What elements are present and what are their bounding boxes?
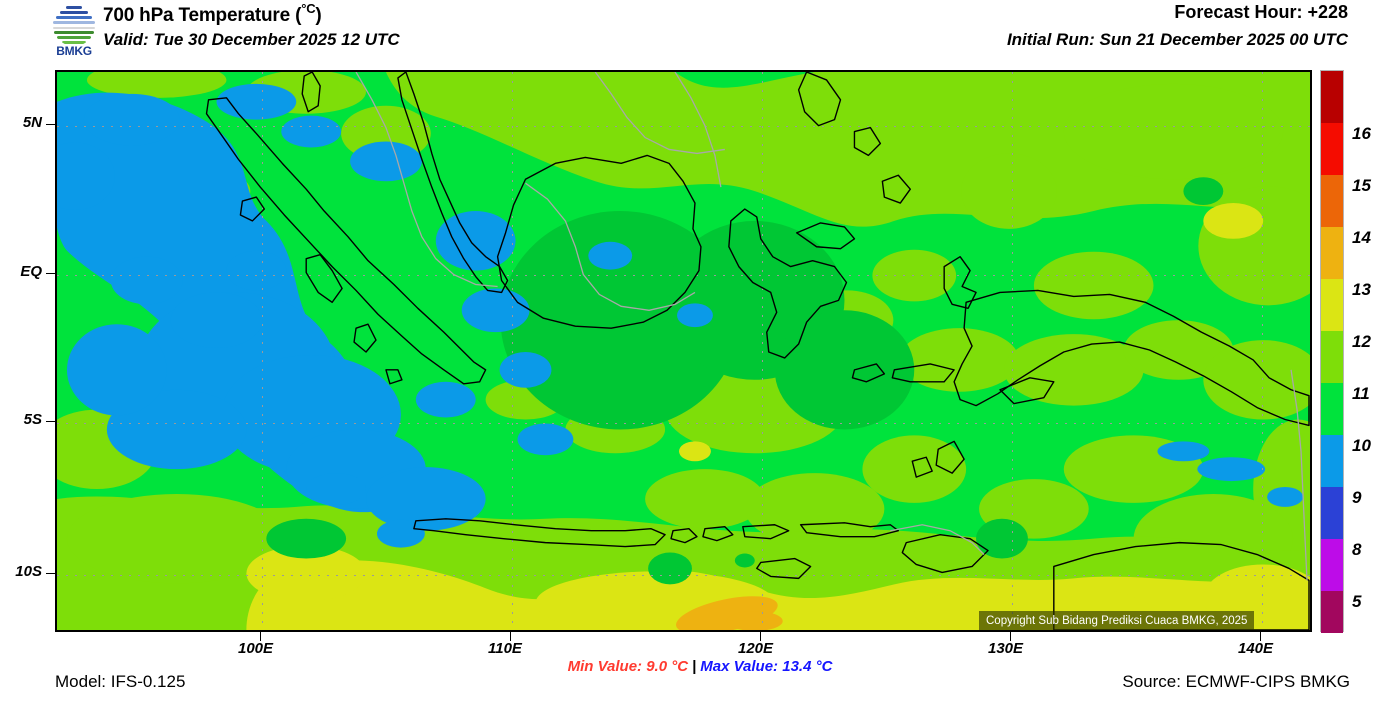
logo-text: BMKG — [46, 44, 102, 58]
max-value: Max Value: 13.4 °C — [700, 658, 832, 675]
colorbar-label-11: 11 — [1352, 384, 1370, 404]
colorbar-label-9: 9 — [1352, 488, 1361, 508]
colorbar-label-14: 14 — [1352, 228, 1371, 248]
model-label: Model: IFS-0.125 — [55, 672, 185, 692]
map-panel[interactable]: Copyright Sub Bidang Prediksi Cuaca BMKG… — [55, 70, 1312, 632]
forecast-hour: Forecast Hour: +228 — [1174, 2, 1348, 23]
initial-run: Initial Run: Sun 21 December 2025 00 UTC — [1007, 30, 1348, 50]
colorbar-label-5: 5 — [1352, 592, 1361, 612]
colorbar-label-10: 10 — [1352, 436, 1371, 456]
colorbar[interactable] — [1320, 70, 1344, 632]
ylabel-eq: EQ — [0, 263, 42, 280]
ylabel-5n: 5N — [0, 114, 42, 131]
title-main: 700 hPa Temperature ( — [103, 5, 301, 26]
colorbar-seg-13-14 — [1321, 227, 1343, 279]
colorbar-seg-14-15 — [1321, 175, 1343, 227]
colorbar-seg-below5 — [1321, 591, 1343, 633]
logo-disc-icon — [52, 2, 96, 46]
title-tail: ) — [315, 5, 321, 26]
ylabel-10s: 10S — [0, 563, 42, 580]
minmax-separator: | — [688, 658, 700, 675]
xlabel-100e: 100E — [238, 640, 273, 657]
colorbar-seg-10-11 — [1321, 383, 1343, 435]
header: BMKG 700 hPa Temperature (°C) Valid: Tue… — [0, 0, 1400, 62]
colorbar-seg-15-16 — [1321, 123, 1343, 175]
xlabel-130e: 130E — [988, 640, 1023, 657]
colorbar-seg-8-9 — [1321, 487, 1343, 539]
colorbar-seg-12-13 — [1321, 279, 1343, 331]
xlabel-140e: 140E — [1238, 640, 1273, 657]
colorbar-label-12: 12 — [1352, 332, 1371, 352]
colorbar-label-16: 16 — [1352, 124, 1371, 144]
ylabel-5s: 5S — [0, 411, 42, 428]
colorbar-seg-11-12 — [1321, 331, 1343, 383]
min-value: Min Value: 9.0 °C — [568, 658, 688, 675]
xlabel-110e: 110E — [488, 640, 522, 657]
colorbar-label-13: 13 — [1352, 280, 1371, 300]
colorbar-label-15: 15 — [1352, 176, 1371, 196]
colorbar-seg-5-8 — [1321, 539, 1343, 591]
title-unit: °C — [301, 1, 315, 16]
colorbar-label-8: 8 — [1352, 540, 1361, 560]
coastline-overlay — [57, 72, 1310, 630]
colorbar-seg-9-10 — [1321, 435, 1343, 487]
page-title: 700 hPa Temperature (°C) — [103, 1, 322, 27]
valid-time: Valid: Tue 30 December 2025 12 UTC — [103, 30, 400, 50]
source-label: Source: ECMWF-CIPS BMKG — [1122, 672, 1350, 692]
copyright-badge: Copyright Sub Bidang Prediksi Cuaca BMKG… — [979, 611, 1254, 632]
bmkg-logo: BMKG — [46, 2, 102, 58]
colorbar-seg-above16 — [1321, 71, 1343, 123]
xlabel-120e: 120E — [738, 640, 773, 657]
